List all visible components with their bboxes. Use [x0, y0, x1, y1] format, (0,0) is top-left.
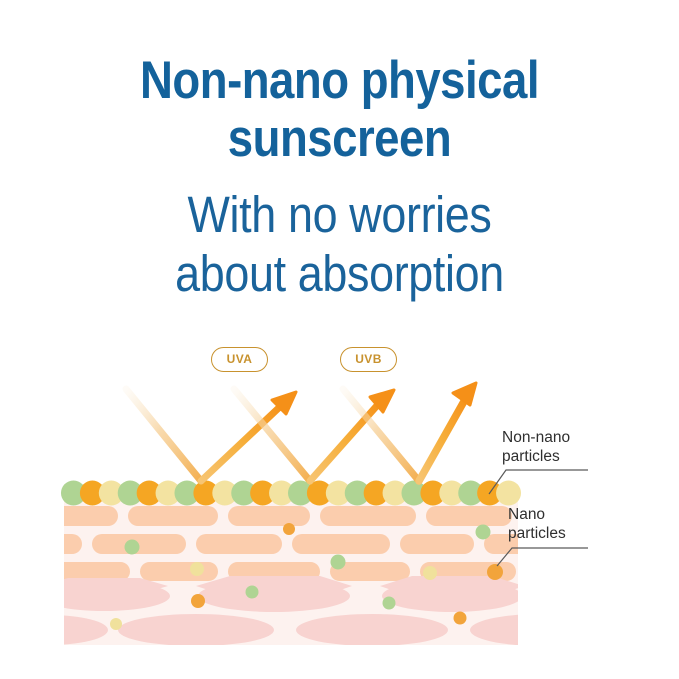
nano-particle	[190, 562, 204, 576]
uv-arrowhead-3	[453, 383, 476, 405]
nano-particle	[423, 566, 437, 580]
nano-particle	[454, 612, 467, 625]
nano-particle	[125, 540, 140, 555]
uvb-badge[interactable]: UVB	[340, 347, 397, 372]
nano-particle	[487, 564, 503, 580]
nano-particles-label: Nano particles	[508, 505, 566, 543]
uv-outgoing-ray-3	[419, 396, 467, 481]
sunscreen-diagram	[0, 0, 679, 679]
nano-particle	[283, 523, 295, 535]
dermis-cells	[0, 576, 664, 676]
uva-incoming-ray-1	[126, 389, 201, 481]
nano-particle	[110, 618, 122, 630]
infographic-poster: Non-nano physical sunscreen With no worr…	[0, 0, 679, 679]
uva-outgoing-ray-1	[201, 402, 285, 481]
nano-particle	[331, 555, 346, 570]
non-nano-particles-label: Non-nano particles	[502, 428, 570, 466]
nano-particle	[246, 586, 259, 599]
uvb-outgoing-ray-2	[310, 400, 382, 481]
nano-particle	[383, 597, 396, 610]
nano-particle	[191, 594, 205, 608]
non-nano-particle	[496, 481, 521, 506]
uva-badge[interactable]: UVA	[211, 347, 268, 372]
uv-rays	[126, 383, 476, 481]
nano-particle	[476, 525, 491, 540]
